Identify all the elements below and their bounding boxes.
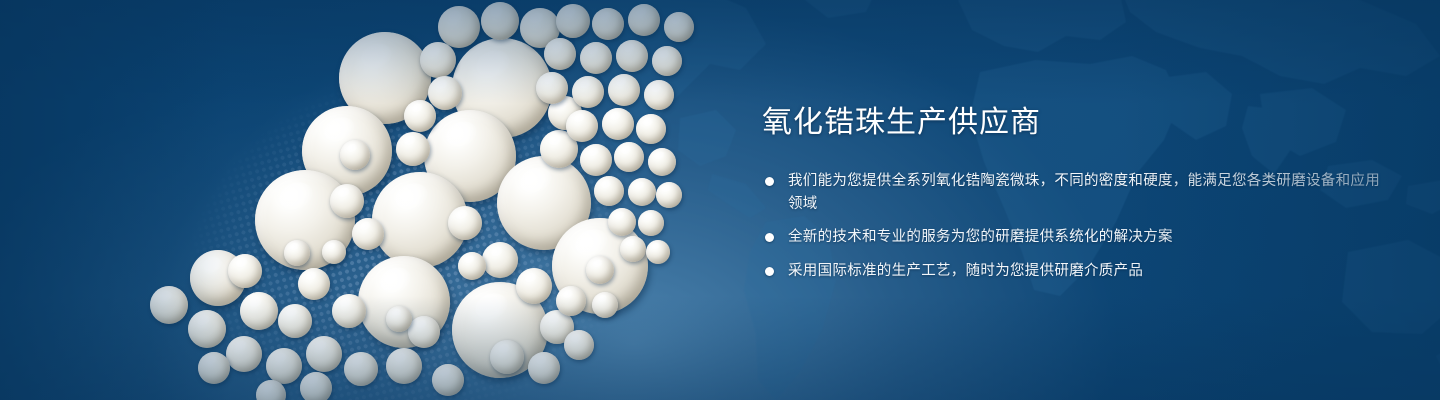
hero-banner: 氧化锆珠生产供应商 我们能为您提供全系列氧化锆陶瓷微珠，不同的密度和硬度，能满足… — [0, 0, 1440, 400]
background-vignette — [0, 0, 1440, 400]
